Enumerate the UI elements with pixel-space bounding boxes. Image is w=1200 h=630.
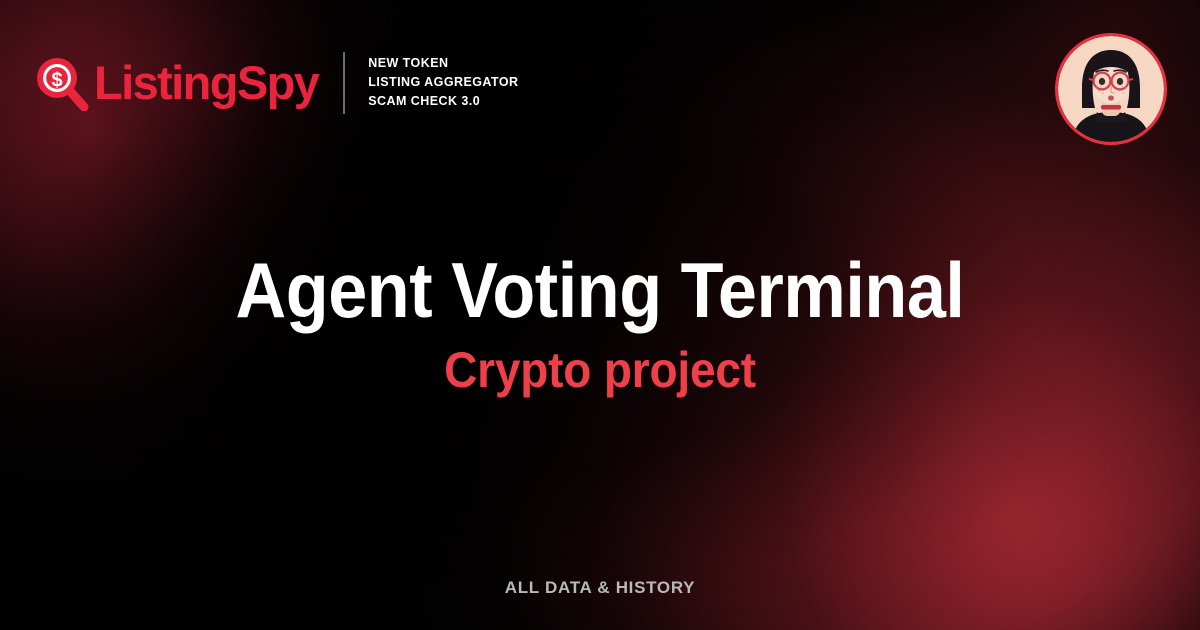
- page-title: Agent Voting Terminal: [60, 250, 1140, 331]
- magnifier-dollar-icon: $: [34, 55, 90, 111]
- brand-wordmark: ListingSpy: [94, 59, 318, 106]
- tagline-line-3: SCAM CHECK 3.0: [368, 93, 518, 111]
- footer: ALL DATA & HISTORY: [0, 578, 1200, 598]
- brand-divider: [343, 52, 345, 114]
- brand-name-part2: Spy: [237, 56, 318, 109]
- brand-logo[interactable]: $ ListingSpy NEW TOKEN LISTING AGGREGATO…: [34, 52, 518, 114]
- avatar[interactable]: [1055, 33, 1167, 145]
- hero-content: Agent Voting Terminal Crypto project: [0, 250, 1200, 398]
- footer-caption: ALL DATA & HISTORY: [0, 578, 1200, 598]
- brand-tagline: NEW TOKEN LISTING AGGREGATOR SCAM CHECK …: [368, 55, 518, 110]
- svg-text:$: $: [51, 70, 62, 92]
- tagline-line-2: LISTING AGGREGATOR: [368, 74, 518, 92]
- page-subtitle: Crypto project: [48, 343, 1152, 398]
- tagline-line-1: NEW TOKEN: [368, 55, 518, 73]
- header: $ ListingSpy NEW TOKEN LISTING AGGREGATO…: [0, 0, 1200, 160]
- brand-name-part1: Listing: [94, 56, 237, 109]
